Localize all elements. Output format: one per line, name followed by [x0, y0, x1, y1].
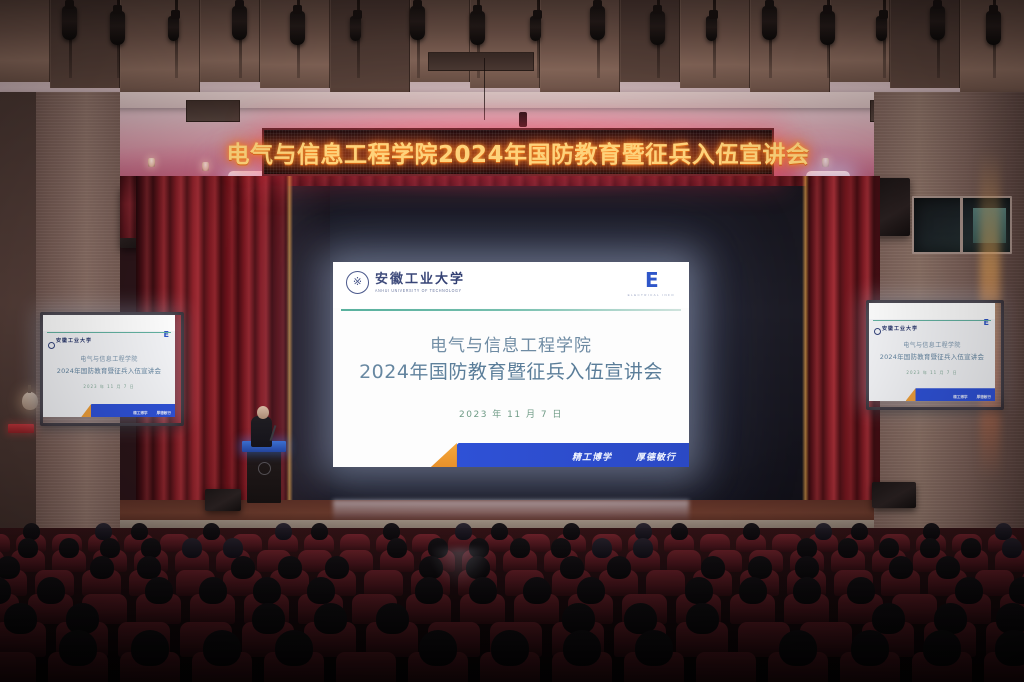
audience-member [131, 523, 148, 540]
audience-member [847, 577, 875, 604]
audience-member [686, 603, 719, 634]
theater-seat [364, 570, 403, 596]
audience-member [275, 523, 292, 540]
audience-member [961, 538, 981, 558]
audience-member [491, 630, 529, 666]
ei-subtitle: ELECTRICAL INFO [628, 293, 675, 297]
speaker-person-body [251, 416, 272, 447]
slide-footer-band: 精工博学 厚德敏行 [333, 440, 689, 467]
side-title-line2: 2024年国防教育暨征兵入伍宣讲会 [869, 351, 995, 361]
stage-spotlight [168, 16, 179, 41]
side-motto-right: 厚德敏行 [977, 395, 991, 400]
side-title-line1: 电气与信息工程学院 [43, 354, 175, 363]
side-motto-right: 厚德敏行 [157, 411, 171, 416]
stage-spotlight [986, 11, 1001, 45]
stage-spotlight [110, 11, 125, 45]
ceiling-speaker-grille [428, 52, 534, 71]
audience-member [278, 556, 302, 579]
slide-footer-orange-wedge [431, 443, 457, 467]
slide-title-line1: 电气与信息工程学院 [333, 334, 689, 359]
ceiling-panel [540, 0, 620, 94]
slide-date: 2023 年 11 月 7 日 [333, 407, 689, 420]
stage-spotlight [410, 6, 425, 40]
audience-seating [0, 528, 1024, 682]
university-name-cn: 安徽工业大学 [375, 273, 465, 287]
audience-member [182, 538, 202, 558]
audience-member [739, 577, 767, 604]
stage-spotlight [706, 16, 717, 41]
stage-spotlight [820, 11, 835, 45]
audience-member [314, 603, 347, 634]
stage-spotlight [232, 6, 247, 40]
university-seal-icon: ※ [346, 271, 369, 294]
audience-member [59, 630, 97, 666]
hanging-wire [484, 58, 485, 120]
audience-member [635, 630, 673, 666]
audience-member [923, 630, 961, 666]
audience-member [307, 577, 335, 604]
side-title-line2: 2024年国防教育暨征兵入伍宣讲会 [43, 365, 175, 375]
audience-member [325, 556, 349, 579]
ceiling-acoustic-panels [0, 0, 1024, 100]
stage-spotlight [530, 16, 541, 41]
audience-member [100, 538, 120, 558]
audience-member [879, 538, 899, 558]
audience-member [955, 577, 983, 604]
ceiling-panel [0, 0, 50, 82]
slide-body: 电气与信息工程学院 2024年国防教育暨征兵入伍宣讲会 2023 年 11 月 … [333, 314, 689, 420]
stage-spotlight [470, 11, 485, 45]
side-title-line1: 电气与信息工程学院 [869, 340, 995, 349]
stage-backdrop-pillar [288, 186, 330, 500]
ceiling-panel [890, 0, 960, 88]
stage-spotlight [590, 6, 605, 40]
ceiling-panel [200, 0, 260, 82]
audience-member [995, 630, 1024, 666]
side-date: 2023 年 11 月 7 日 [869, 370, 995, 376]
audience-member [633, 538, 653, 558]
stage-spotlight [62, 6, 77, 40]
audience-member [872, 603, 905, 634]
audience-member [560, 556, 584, 579]
audience-member [275, 630, 313, 666]
audience-member [779, 630, 817, 666]
theater-seat [336, 652, 396, 682]
audience-member [131, 630, 169, 666]
theater-seat [0, 652, 36, 682]
side-motto-left: 精工博学 [953, 395, 967, 400]
side-date: 2023 年 11 月 7 日 [43, 384, 175, 390]
audience-member [252, 603, 285, 634]
audience-member [851, 523, 868, 540]
audience-member [748, 556, 772, 579]
audience-member [253, 577, 281, 604]
audience-member [671, 523, 688, 540]
audience-member [18, 538, 38, 558]
ceiling-panel [120, 0, 200, 94]
audience-member [562, 603, 595, 634]
university-motto: 精工博学 厚德敏行 [572, 450, 676, 463]
audience-member [851, 630, 889, 666]
theater-seat [667, 550, 701, 572]
audience-member [838, 538, 858, 558]
led-banner-text: 电气与信息工程学院2024年国防教育暨征兵入伍宣讲会 [264, 130, 772, 174]
side-seal-icon [48, 342, 55, 349]
audience-member [685, 577, 713, 604]
side-seal-icon [874, 328, 881, 335]
audience-member [455, 523, 472, 540]
stage-spotlight [650, 11, 665, 45]
exit-sign [8, 424, 34, 433]
stage-spotlight [876, 16, 887, 41]
audience-member [199, 577, 227, 604]
audience-member [551, 538, 571, 558]
audience-member [137, 556, 161, 579]
audience-member [889, 556, 913, 579]
audience-member [743, 523, 760, 540]
audience-member [419, 630, 457, 666]
main-projection-screen: ※ 安徽工业大学 ANHUI UNIVERSITY OF TECHNOLOGY … [333, 262, 689, 467]
audience-member [491, 523, 508, 540]
audience-member [577, 577, 605, 604]
side-motto-left: 精工博学 [133, 411, 147, 416]
slide-title-line2: 2024年国防教育暨征兵入伍宣讲会 [333, 359, 689, 386]
lectern-emblem [258, 462, 271, 475]
audience-member [934, 603, 967, 634]
audience-member [563, 630, 601, 666]
slide-header: ※ 安徽工业大学 ANHUI UNIVERSITY OF TECHNOLOGY … [333, 262, 689, 308]
side-university-name: 安徽工业大学 [882, 325, 918, 332]
audience-member [4, 603, 37, 634]
university-name-en: ANHUI UNIVERSITY OF TECHNOLOGY [375, 288, 465, 293]
slide-divider-rule [341, 309, 681, 311]
audience-member [66, 603, 99, 634]
right-projection-screen: 安徽工业大学 E 电气与信息工程学院 2024年国防教育暨征兵入伍宣讲会 202… [869, 303, 995, 401]
theater-seat [0, 534, 10, 552]
audience-member [510, 538, 530, 558]
side-university-name: 安徽工业大学 [56, 337, 92, 344]
audience-member [376, 603, 409, 634]
speaker-person-head [257, 406, 269, 419]
ceiling-panel [330, 0, 410, 94]
audience-member [311, 523, 328, 540]
audience-member [145, 577, 173, 604]
audience-member [141, 538, 161, 558]
auditorium-scene: 电气与信息工程学院2024年国防教育暨征兵入伍宣讲会 ※ 安徽工业大学 ANHU… [0, 0, 1024, 682]
audience-member [203, 630, 241, 666]
audience-member [795, 556, 819, 579]
aisle-light-glow [430, 548, 490, 588]
audience-member [0, 556, 20, 579]
stage-spotlight [290, 11, 305, 45]
stage-monitor-speaker [205, 489, 241, 511]
ei-letter-mark: E [628, 270, 675, 290]
stage-spotlight [350, 16, 361, 41]
audience-member [607, 556, 631, 579]
stage-monitor-speaker [872, 482, 916, 508]
audience-member [387, 538, 407, 558]
curtain-gold-trim [802, 176, 809, 500]
audience-member [59, 538, 79, 558]
left-projection-screen: 安徽工业大学 E 电气与信息工程学院 2024年国防教育暨征兵入伍宣讲会 202… [43, 315, 175, 417]
led-banner: 电气与信息工程学院2024年国防教育暨征兵入伍宣讲会 [262, 128, 774, 176]
audience-member [223, 538, 243, 558]
theater-seat [696, 652, 756, 682]
audience-member [701, 556, 725, 579]
audience-member [37, 577, 65, 604]
motto-left: 精工博学 [572, 450, 612, 463]
wall-sconce [22, 392, 38, 410]
audience-member [90, 556, 114, 579]
university-logo: ※ 安徽工业大学 ANHUI UNIVERSITY OF TECHNOLOGY [346, 271, 465, 294]
audience-member [797, 538, 817, 558]
curtain-gold-trim [286, 176, 293, 500]
left-wall-return [0, 92, 36, 562]
audience-member [793, 577, 821, 604]
audience-member [996, 603, 1024, 634]
college-emblem: E ELECTRICAL INFO [628, 270, 675, 297]
theater-seat [646, 570, 685, 596]
audience-member [1002, 538, 1022, 558]
audience-member [231, 556, 255, 579]
audience-member [920, 538, 940, 558]
audience-member [936, 556, 960, 579]
audience-member [592, 538, 612, 558]
stage-spotlight [930, 6, 945, 40]
motto-right: 厚德敏行 [636, 450, 676, 463]
stage-spotlight [762, 6, 777, 40]
audience-member [815, 523, 832, 540]
audience-member [523, 577, 551, 604]
audience-member [203, 523, 220, 540]
